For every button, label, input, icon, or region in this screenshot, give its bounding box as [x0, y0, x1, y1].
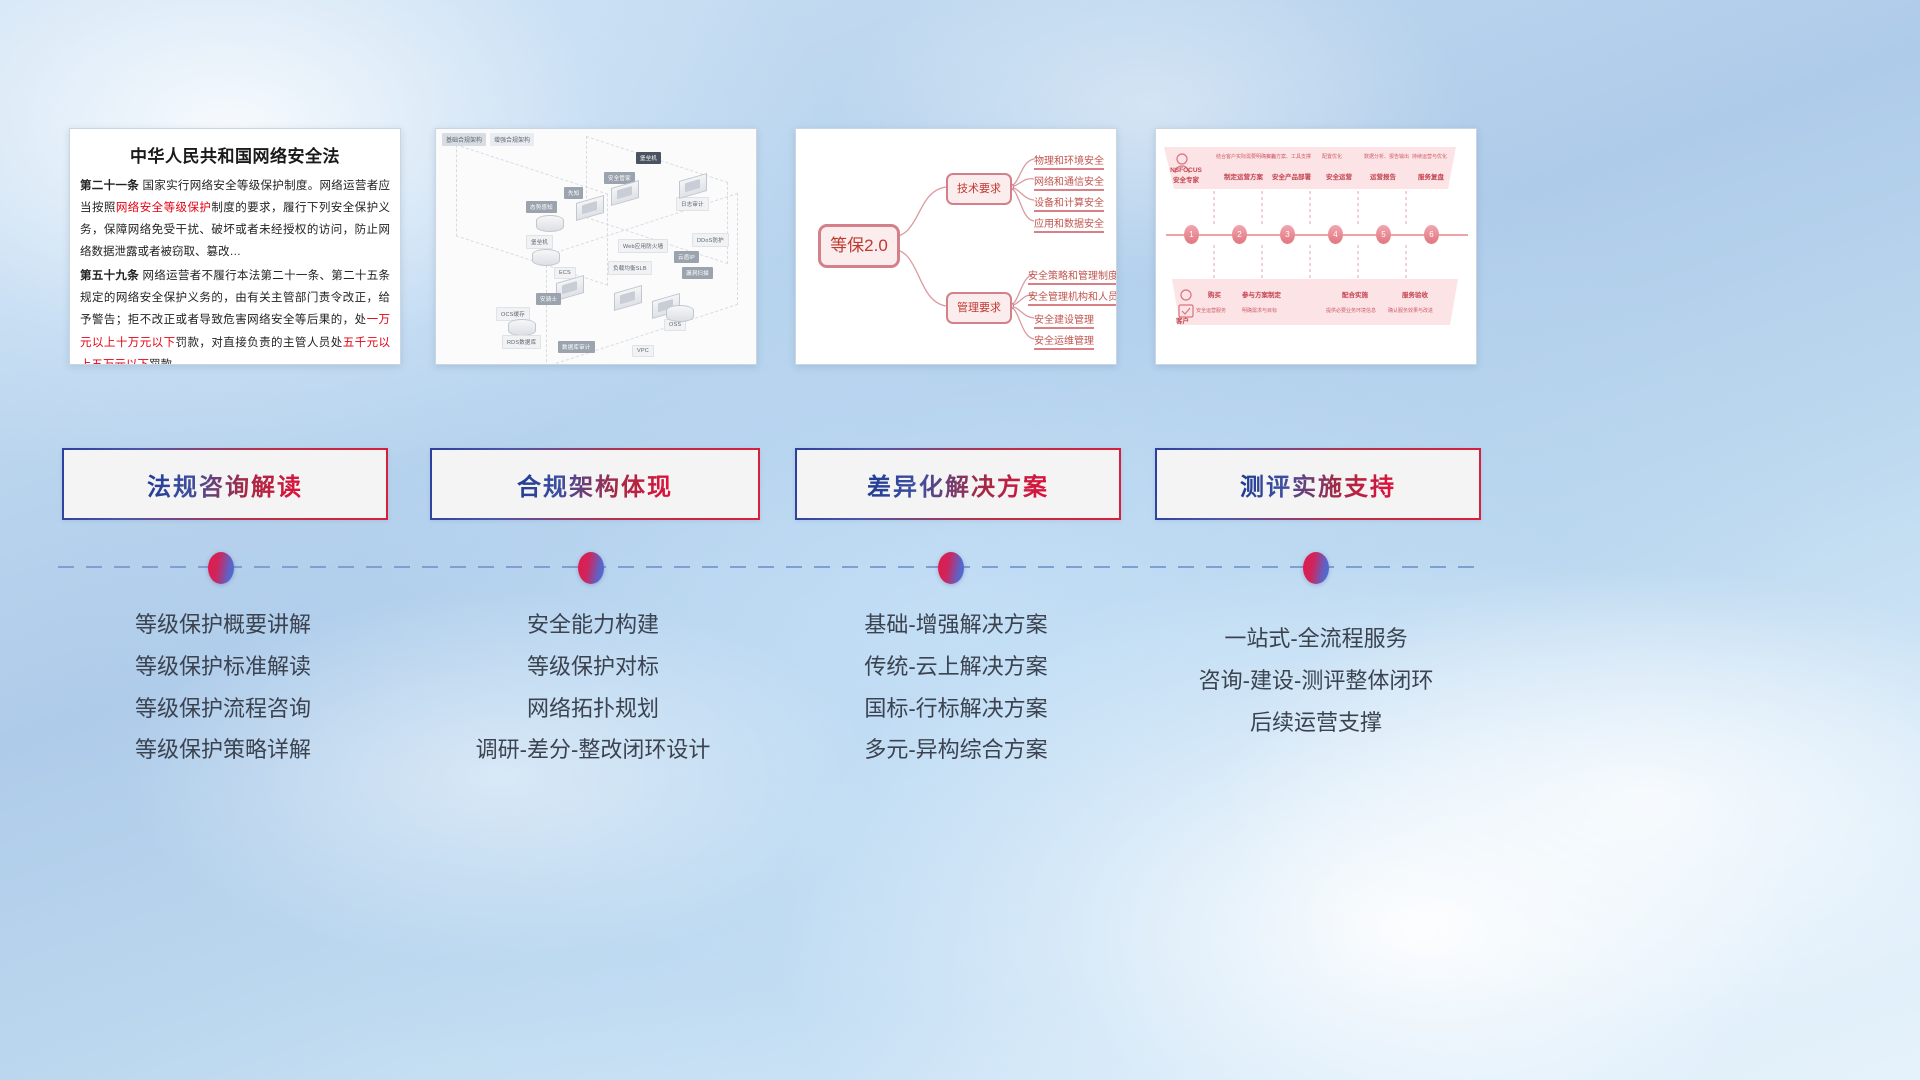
top-step-3-main: 安全运营	[1326, 171, 1352, 181]
mindmap-branch-technical[interactable]: 技术要求	[946, 173, 1012, 205]
mindmap-leaf-physical-env[interactable]: 物理和环境安全	[1034, 152, 1104, 170]
list-item: 等级保护概要讲解	[62, 604, 384, 646]
node-label-cloud-shield-ip: 云盾IP	[674, 251, 699, 263]
card-mindmap-dengbao[interactable]: 等保2.0 技术要求 管理要求 物理和环境安全 网络和通信安全 设备和计算安全 …	[795, 128, 1117, 365]
law-article-59-post: 罚款。	[149, 359, 184, 365]
mindmap-leaf-org-personnel[interactable]: 安全管理机构和人员	[1028, 288, 1117, 306]
timeline-customer-label: 客户	[1176, 315, 1189, 325]
mindmap-root-node[interactable]: 等保2.0	[818, 224, 900, 268]
bottom-step-4-main: 服务验收	[1402, 289, 1428, 299]
list-item: 安全能力构建	[430, 604, 756, 646]
mindmap-leaf-app-data[interactable]: 应用和数据安全	[1034, 215, 1104, 233]
bottom-step-1-main: 购买	[1208, 289, 1221, 299]
law-article-21-label: 第二十一条	[80, 180, 139, 192]
list-item: 咨询-建设-测评整体闭环	[1155, 660, 1477, 702]
button-differentiated-solution-label: 差异化解决方案	[867, 467, 1049, 502]
list-regulation-consulting: 等级保护概要讲解 等级保护标准解读 等级保护流程咨询 等级保护策略详解	[62, 604, 384, 771]
node-label-anqishi: 安骑士	[536, 293, 561, 305]
bottom-step-3-main: 配合实施	[1342, 289, 1368, 299]
list-item: 等级保护流程咨询	[62, 688, 384, 730]
button-regulation-consulting-label: 法规咨询解读	[147, 467, 303, 502]
top-step-4-main: 运营报告	[1370, 171, 1396, 181]
list-item: 一站式-全流程服务	[1155, 618, 1477, 660]
law-title: 中华人民共和国网络安全法	[70, 142, 400, 167]
mindmap-leaf-network-comm[interactable]: 网络和通信安全	[1034, 173, 1104, 191]
preview-cards-row: 中华人民共和国网络安全法 第二十一条 国家实行网络安全等级保护制度。网络运营者应…	[0, 128, 1920, 368]
node-label-waf: Web应用防火墙	[618, 239, 668, 253]
law-article-21-highlight: 网络安全等级保护	[116, 202, 212, 214]
button-regulation-consulting[interactable]: 法规咨询解读	[62, 448, 388, 520]
top-step-2-sub: 实施方案、工具支撑	[1266, 153, 1311, 160]
timeline-node-4[interactable]: 4	[1328, 225, 1343, 244]
card-service-timeline[interactable]: NSFOCUS 安全专家 客户 结合客户实际需要明确目标 制定运营方案 实施方案…	[1155, 128, 1477, 365]
node-label-vpc: VPC	[632, 345, 654, 357]
timeline-axis	[58, 566, 1483, 568]
node-label-rds: RDS数据库	[502, 335, 541, 349]
timeline-marker-4[interactable]	[1303, 552, 1329, 584]
architecture-diagram: 基础合规架构 增强合规架构 堡垒机 安全管家 先知 态势感知 日志审计 Web应…	[436, 129, 756, 364]
list-item: 等级保护对标	[430, 646, 756, 688]
law-article-59-mid: 罚款，对直接负责的主管人员处	[176, 337, 343, 349]
button-compliance-architecture[interactable]: 合规架构体现	[430, 448, 760, 520]
mindmap-branch-management[interactable]: 管理要求	[946, 292, 1012, 324]
list-item: 等级保护策略详解	[62, 729, 384, 771]
tab-basic-architecture[interactable]: 基础合规架构	[442, 133, 486, 146]
mindmap-leaf-construction-mgmt[interactable]: 安全建设管理	[1034, 311, 1094, 329]
list-item: 调研-差分-整改闭环设计	[430, 729, 756, 771]
list-item: 后续运营支撑	[1155, 702, 1477, 744]
node-label-bastion: 堡垒机	[636, 152, 661, 164]
timeline-marker-1[interactable]	[208, 552, 234, 584]
top-step-5-main: 服务复盘	[1418, 171, 1444, 181]
node-label-db-audit: 数据库审计	[558, 341, 595, 353]
timeline-node-2[interactable]: 2	[1232, 225, 1247, 244]
law-body: 第二十一条 国家实行网络安全等级保护制度。网络运营者应当按照网络安全等级保护制度…	[70, 175, 400, 365]
list-item: 国标-行标解决方案	[795, 688, 1117, 730]
top-step-4-sub: 数据分析、报告输出	[1364, 153, 1409, 160]
timeline-marker-3[interactable]	[938, 552, 964, 584]
top-step-3-sub: 配置优化	[1322, 153, 1342, 160]
timeline-node-5[interactable]: 5	[1376, 225, 1391, 244]
tab-enhanced-architecture[interactable]: 增强合规架构	[490, 133, 534, 146]
timeline-marker-2[interactable]	[578, 552, 604, 584]
node-label-vuln-scan: 漏洞扫描	[682, 267, 713, 279]
card-compliance-architecture[interactable]: 基础合规架构 增强合规架构 堡垒机 安全管家 先知 态势感知 日志审计 Web应…	[435, 128, 757, 365]
card-cybersecurity-law[interactable]: 中华人民共和国网络安全法 第二十一条 国家实行网络安全等级保护制度。网络运营者应…	[69, 128, 401, 365]
bottom-step-2-main: 参与方案制定	[1242, 289, 1281, 299]
bottom-step-2-sub: 明确需求与目标	[1242, 307, 1277, 314]
button-compliance-architecture-label: 合规架构体现	[517, 467, 673, 502]
list-item: 网络拓扑规划	[430, 688, 756, 730]
button-differentiated-solution[interactable]: 差异化解决方案	[795, 448, 1121, 520]
service-timeline: NSFOCUS 安全专家 客户 结合客户实际需要明确目标 制定运营方案 实施方案…	[1156, 129, 1476, 364]
list-item: 多元-异构综合方案	[795, 729, 1117, 771]
mindmap-leaf-device-compute[interactable]: 设备和计算安全	[1034, 194, 1104, 212]
bottom-step-1-sub: 安全运营服务	[1196, 307, 1226, 314]
bottom-step-3-sub: 提供必要业务环境信息	[1326, 307, 1376, 314]
node-label-xianzhi: 先知	[564, 187, 583, 199]
node-label-bastion-host: 堡垒机	[526, 235, 553, 249]
timeline-graphics	[1156, 129, 1476, 364]
law-article-21: 第二十一条 国家实行网络安全等级保护制度。网络运营者应当按照网络安全等级保护制度…	[80, 175, 390, 263]
list-assessment-support: 一站式-全流程服务 咨询-建设-测评整体闭环 后续运营支撑	[1155, 618, 1477, 743]
list-item: 等级保护标准解读	[62, 646, 384, 688]
top-step-2-main: 安全产品部署	[1272, 171, 1311, 181]
node-label-ddos: DDoS防护	[692, 233, 729, 247]
mindmap: 等保2.0 技术要求 管理要求 物理和环境安全 网络和通信安全 设备和计算安全 …	[796, 129, 1116, 364]
node-label-slb: 负载均衡SLB	[608, 261, 652, 275]
list-compliance-architecture: 安全能力构建 等级保护对标 网络拓扑规划 调研-差分-整改闭环设计	[430, 604, 756, 771]
timeline-expert-label: NSFOCUS 安全专家	[1168, 167, 1204, 184]
button-assessment-support-label: 测评实施支持	[1240, 467, 1396, 502]
timeline-node-6[interactable]: 6	[1424, 225, 1439, 244]
button-assessment-support[interactable]: 测评实施支持	[1155, 448, 1481, 520]
list-item: 基础-增强解决方案	[795, 604, 1117, 646]
mindmap-leaf-policy-system[interactable]: 安全策略和管理制度	[1028, 267, 1117, 285]
top-step-1-main: 制定运营方案	[1224, 171, 1263, 181]
timeline-node-3[interactable]: 3	[1280, 225, 1295, 244]
law-article-59: 第五十九条 网络运营者不履行本法第二十一条、第二十五条规定的网络安全保护义务的，…	[80, 265, 390, 365]
node-label-log-audit: 日志审计	[676, 197, 709, 211]
list-differentiated-solution: 基础-增强解决方案 传统-云上解决方案 国标-行标解决方案 多元-异构综合方案	[795, 604, 1117, 771]
mindmap-leaf-operation-mgmt[interactable]: 安全运维管理	[1034, 332, 1094, 350]
bottom-step-4-sub: 确认服务效果与改进	[1388, 307, 1433, 314]
timeline-node-1[interactable]: 1	[1184, 225, 1199, 244]
category-buttons-row: 法规咨询解读 合规架构体现 差异化解决方案 测评实施支持	[0, 448, 1920, 518]
node-label-situation-awareness: 态势感知	[526, 201, 557, 213]
list-item: 传统-云上解决方案	[795, 646, 1117, 688]
law-article-59-label: 第五十九条	[80, 270, 139, 282]
top-step-5-sub: 持续运营与优化	[1412, 153, 1447, 160]
